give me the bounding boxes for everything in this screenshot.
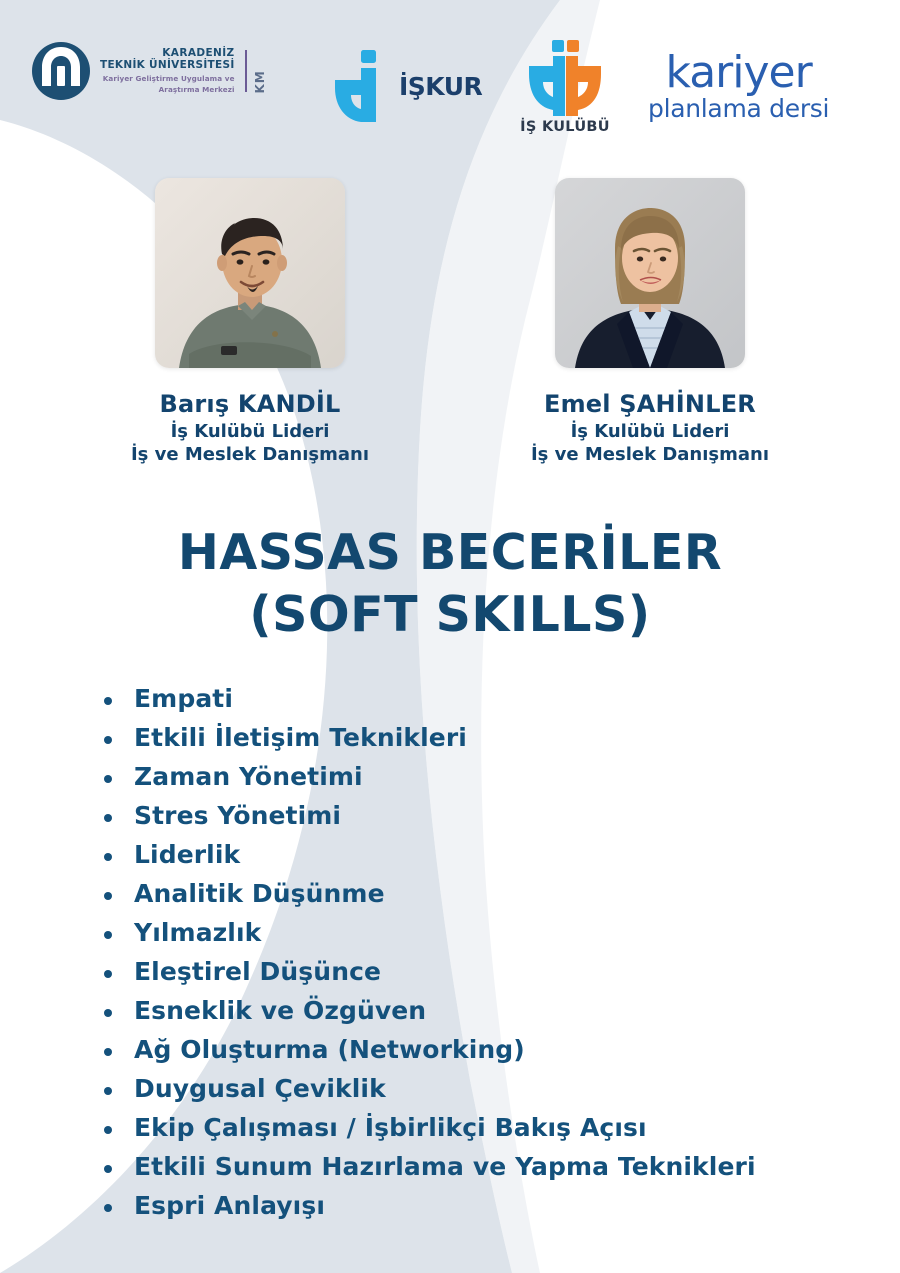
skill-label: Etkili Sunum Hazırlama ve Yapma Teknikle…	[134, 1152, 756, 1181]
bullet-icon	[104, 1126, 112, 1134]
bullet-icon	[104, 1087, 112, 1095]
skill-item: Ağ Oluşturma (Networking)	[100, 1037, 880, 1062]
ktu-emblem-icon	[30, 40, 92, 102]
poster-title: HASSAS BECERİLER (SOFT SKILLS)	[0, 526, 900, 642]
ktu-line2: TEKNİK ÜNİVERSİTESİ	[100, 60, 235, 72]
bullet-icon	[104, 970, 112, 978]
person-card-2: Emel ŞAHİNLER İş Kulübü Lideri İş ve Mes…	[450, 178, 850, 465]
is-kulubu-label: İŞ KULÜBÜ	[505, 119, 625, 135]
person-role-1: İş Kulübü Lideri	[450, 421, 850, 442]
title-line-2: (SOFT SKILLS)	[0, 588, 900, 642]
logo-row: KARADENİZ TEKNİK ÜNİVERSİTESİ Kariyer Ge…	[0, 34, 900, 146]
ktu-line3: Kariyer Geliştirme Uygulama ve	[100, 74, 235, 83]
skill-item: Liderlik	[100, 842, 880, 867]
skill-label: Ağ Oluşturma (Networking)	[134, 1035, 525, 1064]
bullet-icon	[104, 853, 112, 861]
skill-label: Eleştirel Düşünce	[134, 957, 381, 986]
ktu-divider	[245, 50, 247, 92]
skill-item: Empati	[100, 686, 880, 711]
bullet-icon	[104, 1204, 112, 1212]
iskur-mark-icon	[335, 50, 391, 122]
skill-item: Eleştirel Düşünce	[100, 959, 880, 984]
skill-label: Esneklik ve Özgüven	[134, 996, 426, 1025]
skill-label: Stres Yönetimi	[134, 801, 341, 830]
photo-baris-kandil	[155, 178, 345, 368]
skill-label: Empati	[134, 684, 233, 713]
bullet-icon	[104, 931, 112, 939]
skill-item: Esneklik ve Özgüven	[100, 998, 880, 1023]
poster-root: KARADENİZ TEKNİK ÜNİVERSİTESİ Kariyer Ge…	[0, 0, 900, 1273]
iskur-label: İŞKUR	[399, 72, 482, 101]
skill-item: Etkili Sunum Hazırlama ve Yapma Teknikle…	[100, 1154, 880, 1179]
skill-label: Espri Anlayışı	[134, 1191, 325, 1220]
bullet-icon	[104, 697, 112, 705]
skill-label: Duygusal Çeviklik	[134, 1074, 386, 1103]
skill-label: Analitik Düşünme	[134, 879, 385, 908]
person-role-2: İş ve Meslek Danışmanı	[450, 444, 850, 465]
is-kulubu-logo: İŞ KULÜBÜ	[505, 40, 625, 135]
skill-item: Duygusal Çeviklik	[100, 1076, 880, 1101]
skill-item: Ekip Çalışması / İşbirlikçi Bakış Açısı	[100, 1115, 880, 1140]
skill-item: Yılmazlık	[100, 920, 880, 945]
person-card-1: Barış KANDİL İş Kulübü Lideri İş ve Mesl…	[50, 178, 450, 465]
skill-label: Yılmazlık	[134, 918, 261, 947]
person-role-1: İş Kulübü Lideri	[50, 421, 450, 442]
skill-item: Espri Anlayışı	[100, 1193, 880, 1218]
kariyer-logo: kariyer planlama dersi	[648, 52, 829, 122]
person-role-2: İş ve Meslek Danışmanı	[50, 444, 450, 465]
is-kulubu-mark-icon	[505, 40, 625, 116]
skill-label: Liderlik	[134, 840, 240, 869]
bullet-icon	[104, 814, 112, 822]
bullet-icon	[104, 1009, 112, 1017]
title-line-1: HASSAS BECERİLER	[0, 526, 900, 580]
bullet-icon	[104, 1165, 112, 1173]
bullet-icon	[104, 892, 112, 900]
skill-item: Etkili İletişim Teknikleri	[100, 725, 880, 750]
kariyer-line1: kariyer	[648, 52, 829, 94]
skill-item: Stres Yönetimi	[100, 803, 880, 828]
skill-item: Analitik Düşünme	[100, 881, 880, 906]
bullet-icon	[104, 736, 112, 744]
kariyer-line2: planlama dersi	[648, 96, 829, 122]
ktu-logo: KARADENİZ TEKNİK ÜNİVERSİTESİ Kariyer Ge…	[30, 40, 267, 102]
ktu-km-text: KM	[253, 48, 267, 94]
skill-label: Ekip Çalışması / İşbirlikçi Bakış Açısı	[134, 1113, 647, 1142]
skill-label: Etkili İletişim Teknikleri	[134, 723, 467, 752]
person-name: Emel ŞAHİNLER	[450, 390, 850, 418]
person-name: Barış KANDİL	[50, 390, 450, 418]
ktu-line4: Araştırma Merkezi	[100, 85, 235, 94]
bullet-icon	[104, 775, 112, 783]
skill-item: Zaman Yönetimi	[100, 764, 880, 789]
photo-emel-sahinler	[555, 178, 745, 368]
iskur-logo: İŞKUR	[335, 50, 482, 122]
skills-list: EmpatiEtkili İletişim TeknikleriZaman Yö…	[100, 686, 880, 1232]
skill-label: Zaman Yönetimi	[134, 762, 363, 791]
bullet-icon	[104, 1048, 112, 1056]
